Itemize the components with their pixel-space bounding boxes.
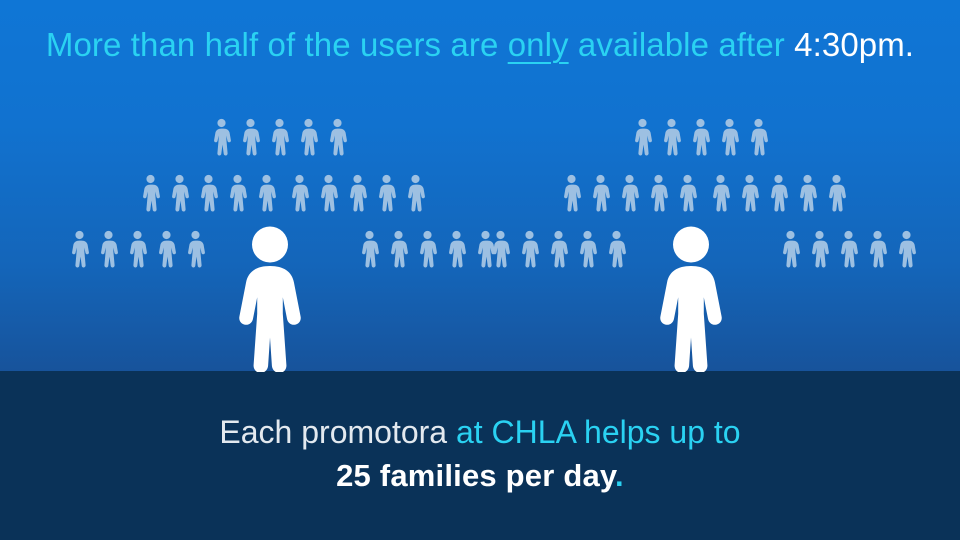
person-icon bbox=[210, 118, 233, 156]
person-icon bbox=[866, 230, 889, 268]
person-icon bbox=[895, 230, 918, 268]
person-icon bbox=[139, 174, 162, 212]
person-icon bbox=[168, 174, 191, 212]
caption-line-1: Each promotora at CHLA helps up to bbox=[0, 412, 960, 452]
person-icon bbox=[825, 174, 848, 212]
person-icon bbox=[808, 230, 831, 268]
large-person-figure-right bbox=[646, 224, 736, 372]
person-icon bbox=[155, 230, 178, 268]
person-icon-large bbox=[646, 224, 736, 372]
person-icon bbox=[97, 230, 120, 268]
person-icon bbox=[576, 230, 599, 268]
person-icon bbox=[387, 230, 410, 268]
headline-underlined-word: only bbox=[508, 26, 569, 63]
large-person-figure-left bbox=[225, 224, 315, 372]
headline: More than half of the users are only ava… bbox=[0, 24, 960, 66]
person-icon bbox=[255, 174, 278, 212]
person-icon bbox=[288, 174, 311, 212]
caption-period: . bbox=[615, 458, 624, 493]
person-icon bbox=[709, 174, 732, 212]
person-icon bbox=[184, 230, 207, 268]
figure-row-3-left bbox=[68, 230, 207, 268]
person-icon bbox=[358, 230, 381, 268]
caption-stat: 25 families per day bbox=[336, 458, 615, 493]
person-icon bbox=[404, 174, 427, 212]
person-icon bbox=[676, 174, 699, 212]
figure-row-2-right bbox=[709, 174, 848, 212]
person-icon bbox=[796, 174, 819, 212]
figure-cluster-left bbox=[60, 118, 480, 374]
headline-time-highlight: 4:30pm. bbox=[794, 26, 914, 63]
person-icon bbox=[489, 230, 512, 268]
headline-part-1: More than half of the users are bbox=[46, 26, 508, 63]
person-icon bbox=[631, 118, 654, 156]
caption-line-2: 25 families per day. bbox=[0, 456, 960, 496]
person-icon bbox=[416, 230, 439, 268]
figure-row-1-center bbox=[210, 118, 349, 156]
person-icon bbox=[547, 230, 570, 268]
infographic-slide: More than half of the users are only ava… bbox=[0, 0, 960, 540]
figure-row-2-left bbox=[560, 174, 699, 212]
person-icon bbox=[226, 174, 249, 212]
person-icon bbox=[660, 118, 683, 156]
figure-row-3-right bbox=[779, 230, 918, 268]
person-icon bbox=[589, 174, 612, 212]
caption-lead: Each promotora bbox=[219, 414, 447, 450]
figure-row-3-right bbox=[358, 230, 497, 268]
person-icon bbox=[779, 230, 802, 268]
figure-row-3-left bbox=[489, 230, 628, 268]
person-icon bbox=[767, 174, 790, 212]
person-icon bbox=[605, 230, 628, 268]
person-icon bbox=[197, 174, 220, 212]
figure-row-1-center bbox=[631, 118, 770, 156]
person-icon bbox=[518, 230, 541, 268]
person-icon bbox=[560, 174, 583, 212]
person-icon bbox=[375, 174, 398, 212]
person-icon-large bbox=[225, 224, 315, 372]
figure-row-2-left bbox=[139, 174, 278, 212]
person-icon bbox=[689, 118, 712, 156]
figure-cluster-right bbox=[481, 118, 901, 374]
person-icon bbox=[126, 230, 149, 268]
person-icon bbox=[239, 118, 262, 156]
person-icon bbox=[326, 118, 349, 156]
caption-rest: at CHLA helps up to bbox=[447, 414, 741, 450]
person-icon bbox=[268, 118, 291, 156]
person-icon bbox=[346, 174, 369, 212]
person-icon bbox=[68, 230, 91, 268]
figure-row-2-right bbox=[288, 174, 427, 212]
person-icon bbox=[618, 174, 641, 212]
person-icon bbox=[317, 174, 340, 212]
person-icon bbox=[647, 174, 670, 212]
person-icon bbox=[738, 174, 761, 212]
headline-part-2: available after bbox=[569, 26, 795, 63]
person-icon bbox=[718, 118, 741, 156]
person-icon bbox=[837, 230, 860, 268]
person-icon bbox=[297, 118, 320, 156]
person-icon bbox=[747, 118, 770, 156]
person-icon bbox=[445, 230, 468, 268]
